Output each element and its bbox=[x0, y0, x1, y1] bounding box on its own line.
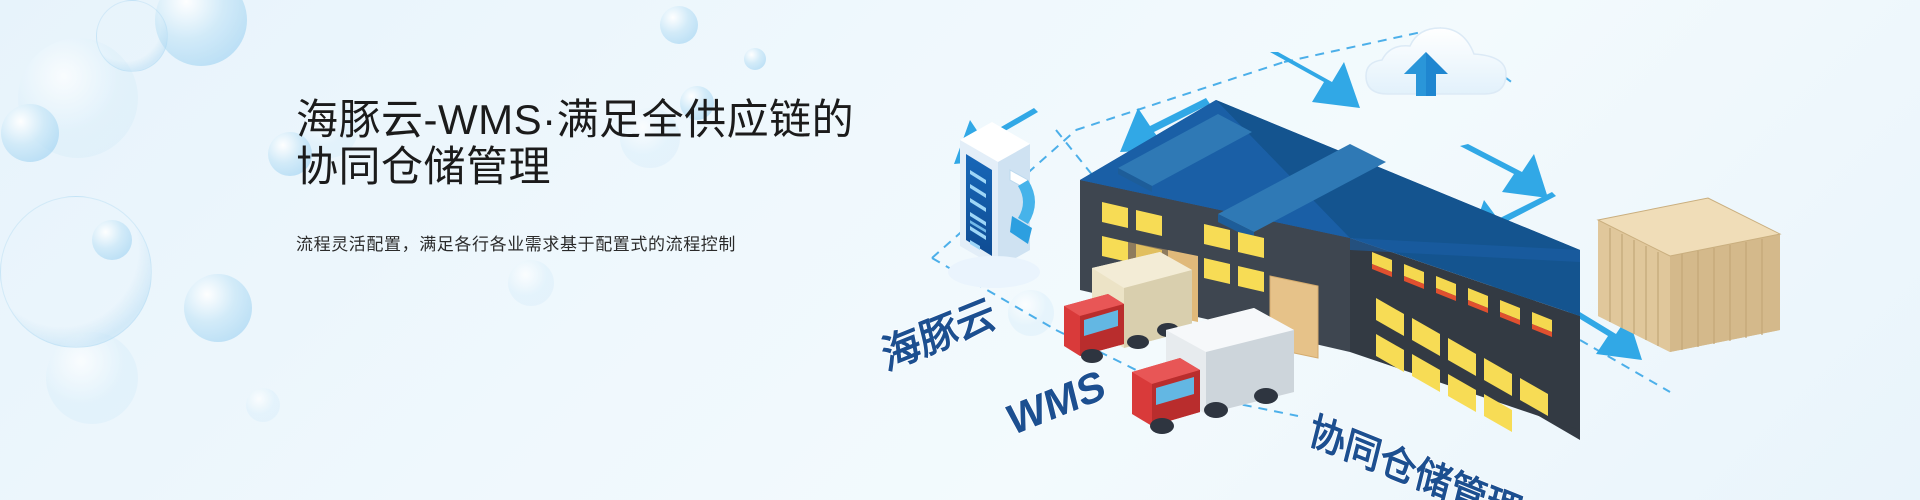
decorative-bubble-12 bbox=[96, 0, 168, 72]
arrow-down-right-1 bbox=[1270, 52, 1360, 108]
label-tagline-3d: 协同仓储管理 bbox=[1305, 409, 1527, 500]
hero-banner: 海豚云-WMS·满足全供应链的 协同仓储管理 流程灵活配置，满足各行各业需求基于… bbox=[0, 0, 1920, 500]
decorative-bubble-1 bbox=[18, 38, 138, 158]
warehouse-illustration: 海豚云 WMS 协同仓储管理 bbox=[880, 0, 1920, 500]
cloud-upload-icon bbox=[1366, 28, 1506, 96]
label-product-3d: WMS bbox=[1003, 360, 1110, 444]
shipping-container bbox=[1598, 198, 1780, 352]
headline-line-1: 海豚云-WMS·满足全供应链的 bbox=[296, 96, 916, 143]
decorative-bubble-16 bbox=[1, 104, 59, 162]
decorative-bubble-13 bbox=[508, 260, 554, 306]
svg-text:海豚云: 海豚云 bbox=[880, 290, 1000, 379]
svg-text:WMS: WMS bbox=[1003, 360, 1110, 444]
label-brand-3d: 海豚云 bbox=[880, 290, 1000, 379]
arrow-right-1 bbox=[1460, 144, 1548, 198]
decorative-bubble-3 bbox=[660, 6, 698, 44]
headline-line-2: 协同仓储管理 bbox=[296, 143, 916, 190]
decorative-bubble-11 bbox=[0, 196, 152, 348]
decorative-bubble-9 bbox=[184, 274, 252, 342]
decorative-bubble-0 bbox=[155, 0, 247, 66]
decorative-bubble-4 bbox=[744, 48, 766, 70]
banner-subtitle: 流程灵活配置，满足各行各业需求基于配置式的流程控制 bbox=[296, 232, 916, 258]
decorative-bubble-8 bbox=[92, 220, 132, 260]
server-rack-icon bbox=[948, 122, 1040, 288]
decorative-bubble-10 bbox=[46, 332, 138, 424]
banner-text-block: 海豚云-WMS·满足全供应链的 协同仓储管理 流程灵活配置，满足各行各业需求基于… bbox=[296, 96, 916, 258]
decorative-bubble-15 bbox=[246, 388, 280, 422]
svg-text:协同仓储管理: 协同仓储管理 bbox=[1305, 409, 1527, 500]
